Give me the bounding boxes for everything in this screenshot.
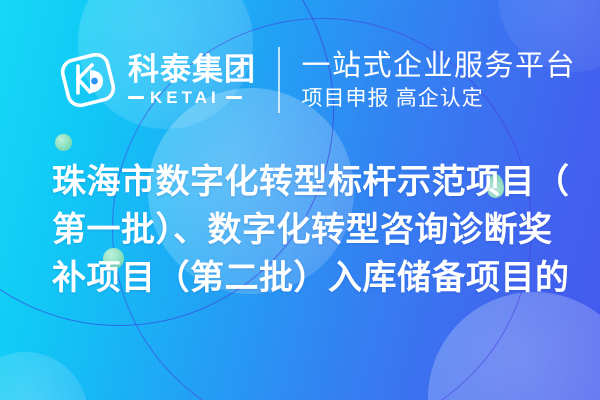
promo-banner: 科泰集团 KETAI 一站式企业服务平台 项目申报 高企认定 珠海市数字化转型标… <box>0 0 600 400</box>
title-line-2: 第一批）、数字化转型咨询诊断奖 <box>52 206 562 254</box>
title-line-1: 珠海市数字化转型标杆示范项目（ <box>52 158 562 206</box>
blob-bottom-right-decoration <box>428 292 600 400</box>
tagline-main: 一站式企业服务平台 <box>302 50 577 82</box>
green-dot-left-decoration <box>55 134 72 151</box>
tagline-sub: 项目申报 高企认定 <box>302 87 577 110</box>
brand-logo[interactable]: 科泰集团 KETAI <box>56 45 256 115</box>
brand-wordmark: 科泰集团 KETAI <box>128 54 256 106</box>
brand-name-en: KETAI <box>150 89 220 106</box>
page-title: 珠海市数字化转型标杆示范项目（ 第一批）、数字化转型咨询诊断奖 补项目（第二批）… <box>52 158 562 302</box>
banner-header: 科泰集团 KETAI 一站式企业服务平台 项目申报 高企认定 <box>0 36 600 124</box>
brand-name-en-row: KETAI <box>128 89 256 106</box>
header-divider <box>278 47 280 113</box>
blob-bottom-left-decoration <box>0 352 88 400</box>
tagline-block: 一站式企业服务平台 项目申报 高企认定 <box>302 50 577 111</box>
title-line-3: 补项目（第二批）入库储备项目的 <box>52 254 562 302</box>
ketai-diamond-kd-logo-icon <box>56 45 120 115</box>
wordmark-rule-right-icon <box>226 96 242 99</box>
wordmark-rule-left-icon <box>128 96 144 99</box>
brand-name-cn: 科泰集团 <box>128 54 256 86</box>
